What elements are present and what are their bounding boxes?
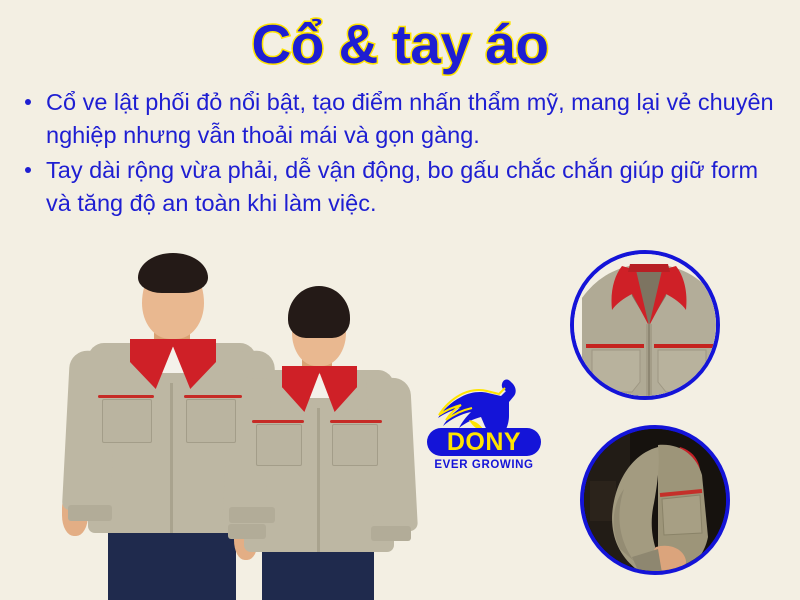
feature-bullet-list: Cổ ve lật phối đỏ nổi bật, tạo điểm nhấn… [16,86,788,222]
bullet-dot-icon [25,99,31,105]
collar-detail-inner [574,254,716,396]
bullet-dot-icon [25,167,31,173]
female-model [226,278,416,600]
dony-logo: DONY EVER GROWING [425,372,543,472]
bullet-text: Tay dài rộng vừa phải, dễ vận động, bo g… [46,157,758,216]
male-trousers [108,522,236,600]
female-pocket-left [256,424,302,466]
bullet-text: Cổ ve lật phối đỏ nổi bật, tạo điểm nhấn… [46,89,774,148]
male-pocket-left [102,399,152,443]
sleeve-detail-inner [584,429,726,571]
collar-detail-photo [570,250,720,400]
female-pocket-trim-left [252,420,304,423]
models-photo [30,243,420,600]
female-right-cuff [371,526,411,541]
sleeve-detail-photo [580,425,730,575]
female-hair [288,286,350,338]
male-hair [138,253,208,293]
male-pocket-right [186,399,236,443]
male-right-cuff [229,507,275,523]
male-pocket-trim-left [98,395,154,398]
dony-tagline-text: EVER GROWING [434,459,533,471]
list-item: Tay dài rộng vừa phải, dễ vận động, bo g… [16,154,788,220]
slide-canvas: Cổ & tay áo Cổ ve lật phối đỏ nổi bật, t… [0,0,800,600]
list-item: Cổ ve lật phối đỏ nổi bật, tạo điểm nhấn… [16,86,788,152]
page-title: Cổ & tay áo [0,8,800,80]
male-pocket-trim-right [184,395,242,398]
female-front-placket [317,408,320,552]
female-pocket-trim-right [330,420,382,423]
dony-wordmark: DONY [427,428,541,456]
dony-wordmark-text: DONY [447,428,521,456]
female-pocket-right [332,424,378,466]
male-front-placket [170,383,173,533]
male-left-cuff [68,505,112,521]
female-left-cuff [228,524,266,539]
